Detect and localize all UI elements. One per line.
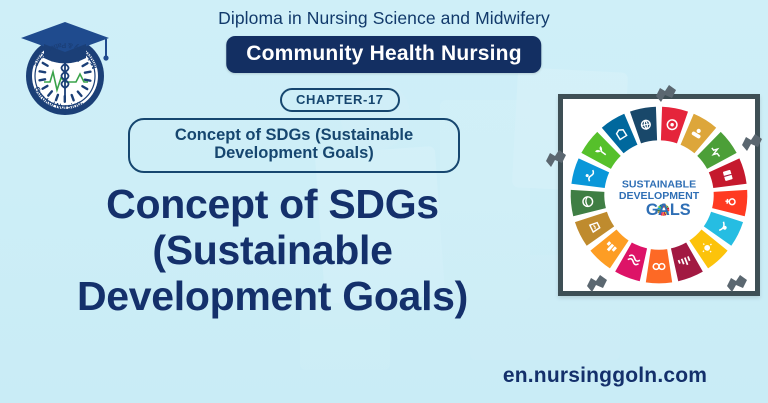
chapter-subtitle-line1: Concept of SDGs (Sustainable (175, 126, 413, 144)
chapter-subtitle-line2: Development Goals) (214, 144, 374, 162)
chapter-badge: CHAPTER-17 (280, 88, 400, 112)
course-title-badge: Community Health Nursing (226, 36, 541, 73)
diploma-line: Diploma in Nursing Science and Midwifery (0, 8, 768, 29)
sdg-center-line1: SUSTAINABLE (622, 178, 696, 190)
sdg-center-line3b: ALS (658, 201, 691, 219)
page-title-line1: Concept of SDGs (10, 182, 535, 228)
chapter-subtitle-box: Concept of SDGs (Sustainable Development… (128, 118, 460, 173)
page-title-line2: (Sustainable (10, 228, 535, 274)
sdg-center-line3: G (646, 201, 659, 219)
website-url[interactable]: en.nursinggoln.com (455, 364, 755, 388)
sdg-segment-13 (571, 190, 606, 216)
sdg-center-line2: DEVELOPMENT (619, 190, 700, 202)
page-title: Concept of SDGs (Sustainable Development… (10, 182, 535, 320)
page-title-line3: Development Goals) (10, 274, 535, 320)
course-banner: Gurukul Nursing, Midwifery & Patient Car… (0, 0, 768, 403)
sdg-wheel-image: SUSTAINABLE DEVELOPMENT G ALS (558, 94, 760, 296)
